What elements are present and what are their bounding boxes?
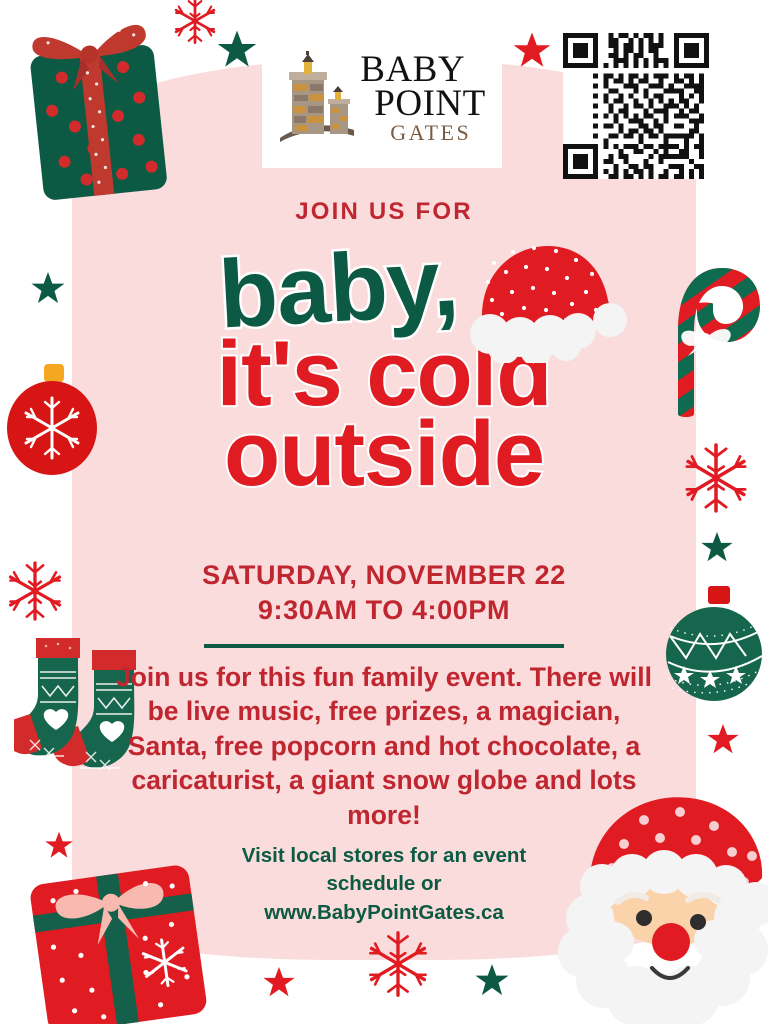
santa-hat-icon <box>468 238 628 363</box>
star-red-icon <box>262 965 296 999</box>
logo-line-2: POINT <box>374 87 485 121</box>
gate-pillars-icon <box>278 50 356 146</box>
kicker-text: JOIN US FOR <box>0 198 768 226</box>
title-line-1: baby, <box>216 236 459 341</box>
star-red-icon <box>706 722 740 756</box>
star-green-icon <box>474 962 510 998</box>
star-green-icon <box>216 28 258 70</box>
snowflake-red-icon <box>168 0 222 48</box>
event-datetime: SATURDAY, NOVEMBER 22 9:30AM TO 4:00PM <box>0 558 768 627</box>
gift-box-green-icon <box>8 6 188 206</box>
logo-line-1: BABY <box>360 53 465 87</box>
poster-title: baby, it's cold outside <box>0 243 768 499</box>
snowflake-red-icon <box>362 928 434 1000</box>
holiday-event-poster: BABY POINT GATES <box>0 0 768 1024</box>
event-time: 9:30AM TO 4:00PM <box>0 593 768 628</box>
logo-container: BABY POINT GATES <box>262 28 502 168</box>
title-line-3: outside <box>0 409 768 499</box>
santa-face-icon <box>548 782 768 1024</box>
section-divider <box>204 644 564 648</box>
qr-code[interactable] <box>563 33 709 179</box>
logo-line-3: GATES <box>390 123 471 143</box>
event-date: SATURDAY, NOVEMBER 22 <box>0 558 768 593</box>
star-red-icon <box>512 30 552 70</box>
